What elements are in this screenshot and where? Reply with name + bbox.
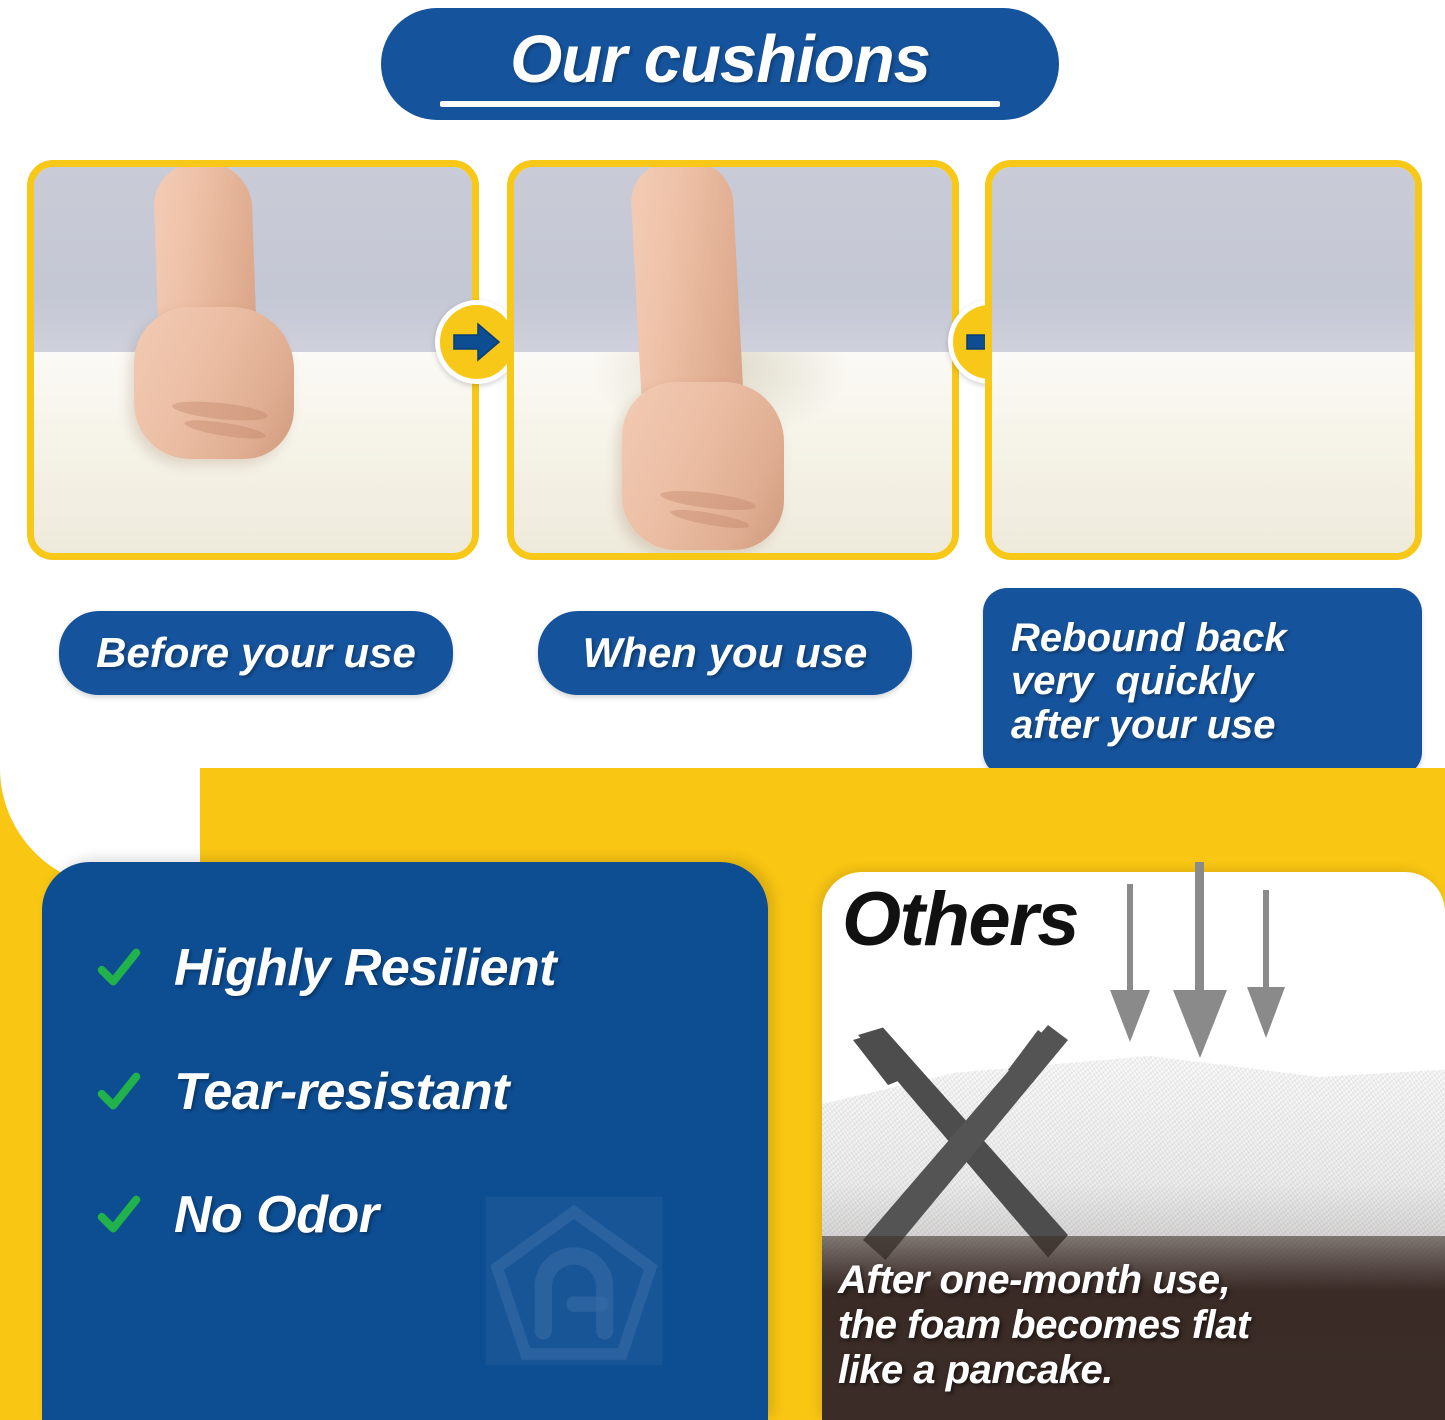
others-caption-line-3: like a pancake. (838, 1348, 1398, 1393)
check-icon (96, 1069, 142, 1115)
others-caption-line-1: After one-month use, (838, 1258, 1398, 1303)
down-arrow-icon (1170, 862, 1230, 1062)
page-title: Our cushions (510, 26, 930, 93)
feature-item-no-odor: No Odor (96, 1185, 378, 1245)
pentagon-logo-watermark-icon (478, 1185, 670, 1377)
title-underline (440, 101, 1000, 107)
check-icon (96, 1192, 142, 1238)
down-arrow-icon (1242, 890, 1290, 1040)
feature-label: Tear-resistant (174, 1062, 509, 1122)
feature-label: Highly Resilient (174, 938, 556, 998)
step-photo-after (985, 160, 1422, 560)
x-mark-icon (838, 1020, 1088, 1270)
step-label-during: When you use (538, 611, 912, 695)
others-caption-line-2: the foam becomes flat (838, 1303, 1398, 1348)
step-label-before: Before your use (59, 611, 453, 695)
foam-surface-rebounded (992, 352, 1415, 553)
infographic-page: Our cushions Before your use (0, 0, 1445, 1420)
fist (622, 382, 784, 550)
fist (134, 307, 294, 459)
others-title: Others (842, 882, 1078, 958)
feature-item-tear-resistant: Tear-resistant (96, 1062, 509, 1122)
feature-item-highly-resilient: Highly Resilient (96, 938, 556, 998)
page-title-banner: Our cushions (381, 8, 1059, 120)
step-photo-during (507, 160, 959, 560)
step-label-after-line-1: Rebound back (1011, 617, 1287, 660)
step-label-after-line-2: very quickly (1011, 660, 1253, 703)
step-label-after-line-3: after your use (1011, 704, 1276, 747)
step-photo-before (27, 160, 479, 560)
arrow-right-icon (453, 322, 501, 362)
check-icon (96, 945, 142, 991)
others-caption: After one-month use, the foam becomes fl… (838, 1258, 1398, 1392)
step-label-after: Rebound back very quickly after your use (983, 588, 1422, 776)
feature-label: No Odor (174, 1185, 378, 1245)
photo-background-wall (992, 167, 1415, 352)
down-arrow-icon (1106, 884, 1154, 1044)
